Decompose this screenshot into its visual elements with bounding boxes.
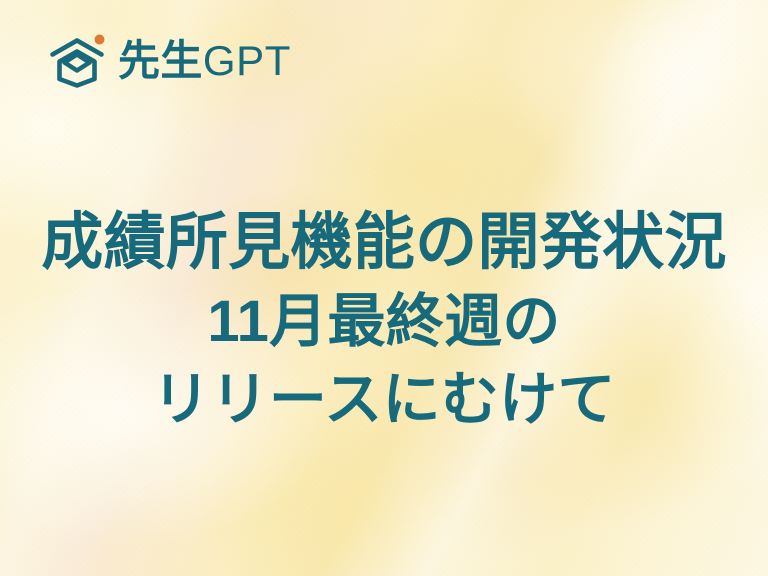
logo-accent-dot [95, 35, 105, 45]
slide-title: 成績所見機能の開発状況 11月最終週の リリースにむけて [0, 205, 768, 436]
title-line-1: 成績所見機能の開発状況 [0, 205, 768, 281]
title-line-3: リリースにむけて [0, 365, 768, 436]
brand-name-en: GPT [203, 40, 291, 82]
brand-wordmark: 先生GPT [118, 40, 291, 82]
graduation-cap-hexagon-icon [48, 32, 106, 90]
title-line-2: 11月最終週の [0, 287, 768, 358]
brand-name-jp: 先生 [118, 40, 203, 82]
slide-canvas: 先生GPT 成績所見機能の開発状況 11月最終週の リリースにむけて [0, 0, 768, 576]
brand-logo: 先生GPT [48, 32, 291, 90]
